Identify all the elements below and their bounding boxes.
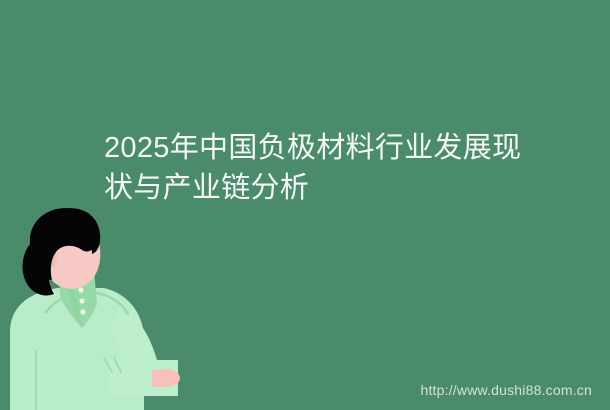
hand-shape: [152, 369, 180, 387]
watermark-url: http://www.dushi88.com.cn: [420, 382, 592, 398]
person-illustration: [0, 200, 220, 410]
page-title: 2025年中国负极材料行业发展现状与产业链分析: [104, 128, 524, 208]
article-cover-banner: 2025年中国负极材料行业发展现状与产业链分析 http://www.dushi…: [0, 0, 610, 410]
